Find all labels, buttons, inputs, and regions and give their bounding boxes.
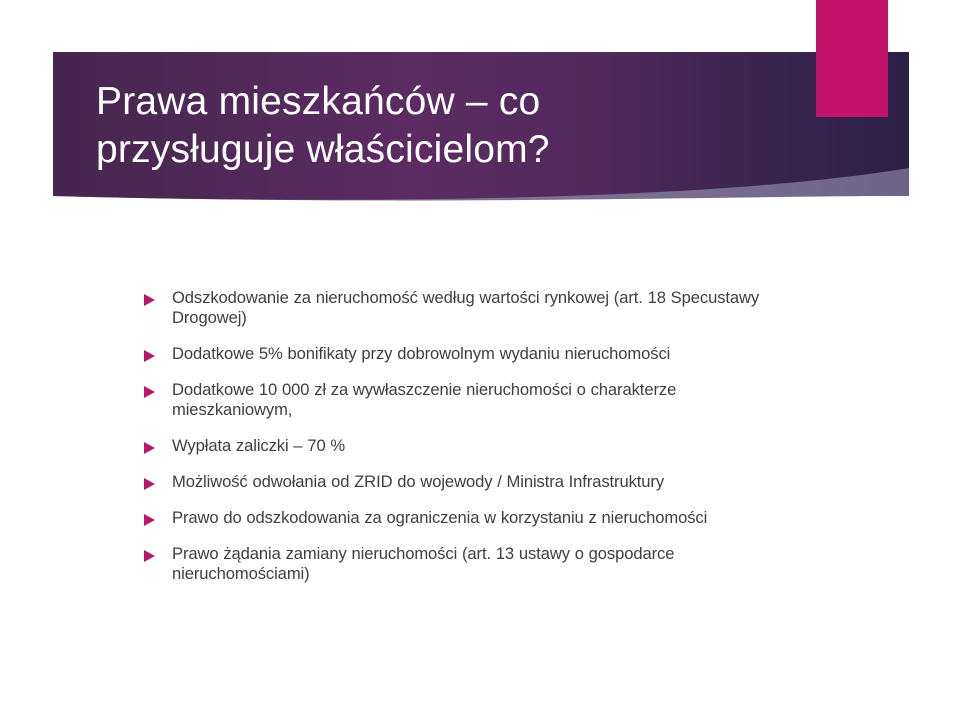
list-item-label: Odszkodowanie za nieruchomość według war… bbox=[172, 288, 780, 328]
triangle-bullet-icon bbox=[144, 478, 155, 490]
list-item-label: Dodatkowe 5% bonifikaty przy dobrowolnym… bbox=[172, 344, 780, 364]
triangle-bullet-icon bbox=[144, 294, 155, 306]
triangle-bullet-icon bbox=[144, 386, 155, 398]
title-line-1: Prawa mieszkańców – co bbox=[96, 78, 796, 126]
list-item: Prawo do odszkodowania za ograniczenia w… bbox=[140, 508, 780, 528]
pink-accent-bar bbox=[816, 0, 888, 117]
list-item-label: Prawo żądania zamiany nieruchomości (art… bbox=[172, 544, 780, 584]
list-item: Dodatkowe 10 000 zł za wywłaszczenie nie… bbox=[140, 380, 780, 420]
title-line-2: przysługuje właścicielom? bbox=[96, 126, 796, 174]
slide-title: Prawa mieszkańców – co przysługuje właśc… bbox=[96, 78, 796, 174]
list-item: Wypłata zaliczki – 70 % bbox=[140, 436, 780, 456]
triangle-bullet-icon bbox=[144, 442, 155, 454]
list-item-label: Wypłata zaliczki – 70 % bbox=[172, 436, 780, 456]
triangle-bullet-icon bbox=[144, 350, 155, 362]
triangle-bullet-icon bbox=[144, 514, 155, 526]
slide-canvas: Prawa mieszkańców – co przysługuje właśc… bbox=[0, 0, 960, 720]
bullet-list: Odszkodowanie za nieruchomość według war… bbox=[140, 288, 780, 600]
triangle-bullet-icon bbox=[144, 550, 155, 562]
list-item-label: Możliwość odwołania od ZRID do wojewody … bbox=[172, 472, 780, 492]
list-item: Dodatkowe 5% bonifikaty przy dobrowolnym… bbox=[140, 344, 780, 364]
list-item-label: Dodatkowe 10 000 zł za wywłaszczenie nie… bbox=[172, 380, 780, 420]
list-item-label: Prawo do odszkodowania za ograniczenia w… bbox=[172, 508, 780, 528]
list-item: Odszkodowanie za nieruchomość według war… bbox=[140, 288, 780, 328]
list-item: Możliwość odwołania od ZRID do wojewody … bbox=[140, 472, 780, 492]
list-item: Prawo żądania zamiany nieruchomości (art… bbox=[140, 544, 780, 584]
